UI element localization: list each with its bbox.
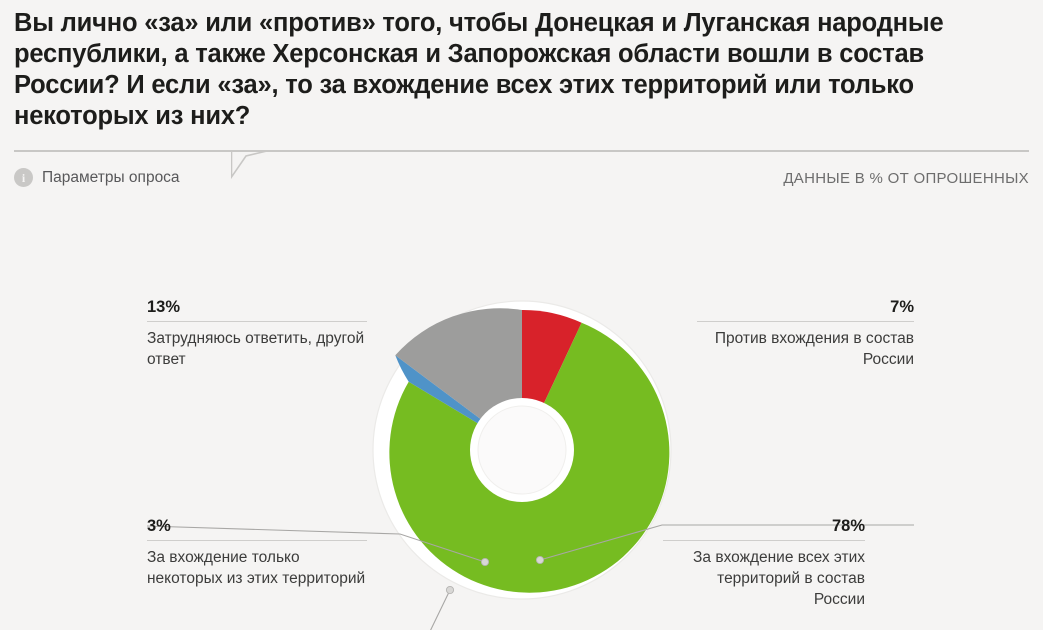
poll-parameters-label: Параметры опроса	[42, 169, 180, 187]
callout-partial-label: За вхождение только некоторых из этих те…	[147, 547, 367, 589]
callout-against-percent: 7%	[697, 298, 914, 321]
poll-parameters-button[interactable]: i Параметры опроса	[14, 168, 180, 187]
callout-against-rule	[697, 321, 914, 322]
data-units-note: ДАННЫЕ В % ОТ ОПРОШЕННЫХ	[783, 170, 1029, 187]
callout-undecided-percent: 13%	[147, 298, 367, 321]
callout-partial-percent: 3%	[147, 517, 367, 540]
callout-all-percent: 78%	[663, 517, 865, 540]
poll-result-infographic: Вы лично «за» или «против» того, чтобы Д…	[0, 0, 1043, 630]
callout-all: 78% За вхождение всех этих территорий в …	[663, 517, 865, 610]
header-divider	[14, 150, 1029, 152]
callout-all-rule	[663, 540, 865, 541]
info-icon: i	[14, 168, 33, 187]
page-title: Вы лично «за» или «против» того, чтобы Д…	[14, 8, 1014, 132]
divider-notch-icon	[231, 150, 271, 180]
callout-against: 7% Против вхождения в состав России	[697, 298, 914, 370]
callout-partial: 3% За вхождение только некоторых из этих…	[147, 517, 367, 589]
callout-partial-rule	[147, 540, 367, 541]
callout-all-label: За вхождение всех этих территорий в сост…	[663, 547, 865, 610]
donut-chart	[372, 300, 672, 600]
callout-undecided-label: Затрудняюсь ответить, другой ответ	[147, 328, 367, 370]
callout-undecided-rule	[147, 321, 367, 322]
callout-undecided: 13% Затрудняюсь ответить, другой ответ	[147, 298, 367, 370]
callout-against-label: Против вхождения в состав России	[697, 328, 914, 370]
